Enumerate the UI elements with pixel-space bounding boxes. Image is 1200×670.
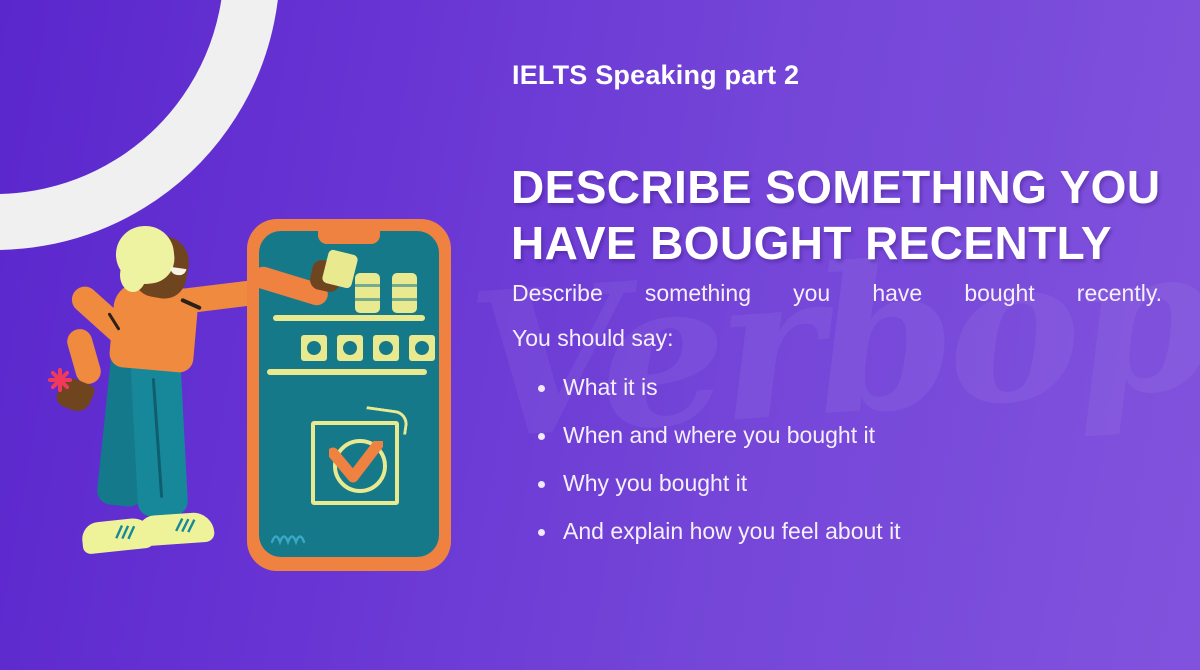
picked-product-item	[321, 249, 358, 289]
list-item: When and where you bought it	[533, 424, 1173, 447]
shelf-box-item	[373, 335, 399, 361]
character-front-shoe	[137, 511, 215, 546]
shoe-stripes-icon	[113, 522, 137, 542]
shelf-line	[273, 315, 425, 321]
squiggle-decoration-icon	[271, 529, 311, 545]
page-title: DESCRIBE SOMETHING YOU HAVE BOUGHT RECEN…	[511, 159, 1191, 271]
sparkle-icon	[46, 366, 74, 394]
checkmark-icon	[329, 441, 383, 485]
shelf-box-item	[337, 335, 363, 361]
slide-canvas: Verbop	[0, 0, 1200, 670]
shelf-can-item	[392, 273, 417, 313]
lead-line-1: Describe something you have bought recen…	[512, 282, 1162, 305]
shelf-can-item	[355, 273, 380, 313]
shelf-box-item	[301, 335, 327, 361]
shoe-stripes-icon	[173, 516, 196, 535]
character-hair-side	[120, 258, 146, 292]
list-item: And explain how you feel about it	[533, 520, 1173, 543]
shelf-line	[267, 369, 427, 375]
prompt-bullet-list: What it is When and where you bought it …	[533, 376, 1173, 568]
checkout-card	[311, 421, 399, 505]
phone-notch	[318, 231, 380, 244]
phone-illustration	[247, 219, 451, 571]
slide-eyebrow: IELTS Speaking part 2	[512, 60, 799, 91]
card-scribble-decoration	[364, 406, 410, 435]
lead-line-2: You should say:	[512, 327, 1162, 350]
shelf-box-item	[409, 335, 435, 361]
slide-lead-paragraph: Describe something you have bought recen…	[512, 282, 1162, 350]
list-item: What it is	[533, 376, 1173, 399]
list-item: Why you bought it	[533, 472, 1173, 495]
phone-screen	[259, 231, 439, 557]
